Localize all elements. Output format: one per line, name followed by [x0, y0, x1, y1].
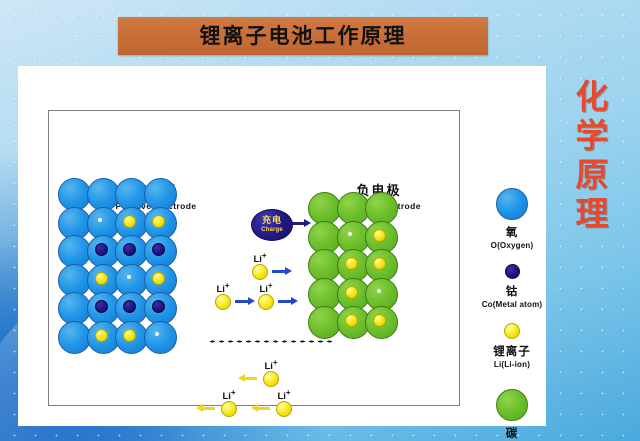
lattice-junction-dot — [155, 332, 159, 336]
ion-flow-arrow — [235, 300, 249, 303]
legend-cobalt-cn: 钴 — [506, 283, 519, 299]
charge-bubble: 充电 Charge — [251, 209, 293, 241]
lithium-ion: Li+ — [252, 264, 268, 280]
page-title: 锂离子电池工作原理 — [200, 26, 407, 47]
lattice-junction-dot — [98, 218, 102, 222]
lithium-ion-label: Li+ — [277, 388, 290, 402]
legend-item-lithium: 锂离子 Li(Li-ion) — [464, 323, 560, 369]
legend-lithium-cn: 锂离子 — [493, 343, 531, 359]
ion-flow-arrow — [202, 407, 215, 410]
cobalt-circle-icon — [505, 264, 520, 279]
side-title-char-2: 学 — [566, 117, 618, 156]
lithium-ion-label: Li+ — [222, 388, 235, 402]
lithium-circle-icon — [504, 323, 520, 339]
oxygen-atom — [144, 321, 177, 354]
charge-label-en: Charge — [261, 227, 283, 233]
legend: 氧 O(Oxygen) 钴 Co(Metal atom) 锂离子 Li(Li-i… — [464, 188, 560, 441]
lithium-ion-label: Li+ — [253, 251, 266, 265]
lithium-ion-circle — [221, 401, 237, 417]
lithium-ion-circle — [215, 294, 231, 310]
legend-item-oxygen: 氧 O(Oxygen) — [464, 188, 560, 250]
lithium-ion: Li+ — [215, 294, 231, 310]
lithium-atom — [95, 329, 108, 342]
side-title: 化 学 原 理 — [566, 78, 618, 234]
lithium-ion-circle — [252, 264, 268, 280]
lithium-ion: Li+ — [263, 371, 279, 387]
side-title-char-4: 理 — [566, 195, 618, 234]
title-banner: 锂离子电池工作原理 — [118, 17, 488, 55]
lithium-atom — [373, 257, 386, 270]
legend-oxygen-cn: 氧 — [506, 224, 519, 240]
ion-flow-arrow — [278, 300, 292, 303]
lattice-junction-dot — [377, 289, 381, 293]
side-title-char-1: 化 — [566, 78, 618, 117]
lithium-atom — [345, 286, 358, 299]
lithium-atom — [373, 314, 386, 327]
lithium-ion-circle — [258, 294, 274, 310]
charge-label-cn: 充电 — [262, 217, 282, 226]
cobalt-atom — [123, 243, 136, 256]
legend-item-cobalt: 钴 Co(Metal atom) — [464, 264, 560, 309]
side-title-char-3: 原 — [566, 156, 618, 195]
legend-carbon-cn: 碳 — [506, 425, 519, 441]
ion-flow-arrow — [244, 377, 257, 380]
lattice-junction-dot — [127, 275, 131, 279]
ion-flow-arrow — [272, 270, 286, 273]
content-card: 正电极 Positive Electrode LiCoO2 负电极 Negati… — [18, 66, 546, 426]
lithium-atom — [345, 257, 358, 270]
lithium-atom — [152, 215, 165, 228]
legend-oxygen-en: O(Oxygen) — [491, 241, 534, 250]
lithium-ion-label: Li+ — [259, 281, 272, 295]
separator-dotted-line — [208, 340, 336, 343]
legend-item-carbon: 碳 C(Carbon) — [464, 389, 560, 441]
lithium-atom — [152, 272, 165, 285]
legend-lithium-en: Li(Li-ion) — [494, 360, 530, 369]
lithium-ion-label: Li+ — [264, 358, 277, 372]
ion-flow-arrow — [257, 407, 270, 410]
cobalt-atom — [152, 300, 165, 313]
lithium-ion: Li+ — [276, 401, 292, 417]
carbon-circle-icon — [496, 389, 528, 421]
lithium-atom — [345, 314, 358, 327]
lithium-atom — [123, 215, 136, 228]
lithium-ion-label: Li+ — [216, 281, 229, 295]
cobalt-atom — [95, 300, 108, 313]
cobalt-atom — [123, 300, 136, 313]
lithium-ion: Li+ — [221, 401, 237, 417]
slide-canvas: 锂离子电池工作原理 正电极 Positive Electrode LiCoO2 … — [0, 0, 640, 441]
lithium-atom — [123, 329, 136, 342]
lattice-junction-dot — [348, 232, 352, 236]
legend-cobalt-en: Co(Metal atom) — [482, 300, 543, 309]
cobalt-atom — [95, 243, 108, 256]
lithium-ion-circle — [263, 371, 279, 387]
lithium-atom — [95, 272, 108, 285]
lithium-ion-circle — [276, 401, 292, 417]
lithium-atom — [373, 229, 386, 242]
lithium-ion: Li+ — [258, 294, 274, 310]
cobalt-atom — [152, 243, 165, 256]
oxygen-circle-icon — [496, 188, 528, 220]
